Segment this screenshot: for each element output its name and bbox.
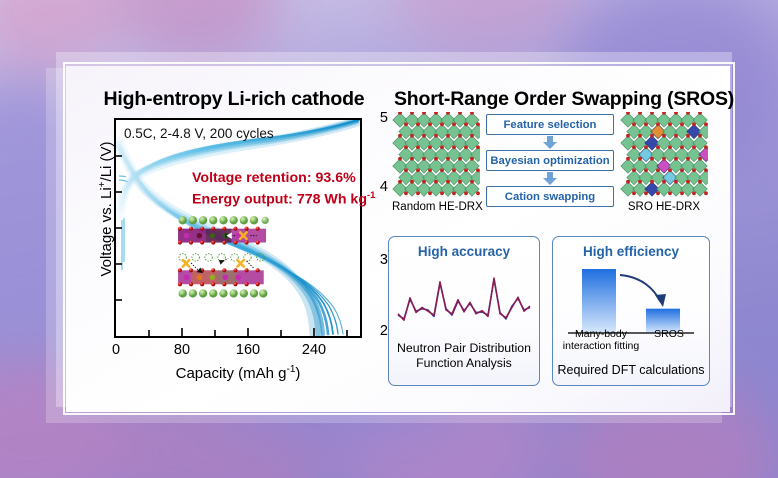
bar-label-many-body-line1: Many-body — [559, 329, 643, 341]
bar-many-body — [582, 269, 616, 333]
high-accuracy-caption: Neutron Pair Distribution Function Analy… — [389, 341, 539, 370]
bar-label-many-body: Many-body interaction fitting — [559, 329, 643, 352]
y-tick-5: 5 — [364, 110, 388, 126]
li-vacancies — [179, 254, 264, 261]
sro-he-drx-icon — [620, 112, 708, 200]
accuracy-caption-line1: Neutron Pair Distribution — [389, 341, 539, 356]
high-efficiency-title: High efficiency — [553, 244, 709, 259]
x-tick-160: 160 — [228, 342, 268, 358]
bar-label-sros: SROS — [641, 329, 697, 341]
arrow-down-icon-2 — [542, 172, 558, 185]
chart-plot-area: 0.5C, 2-4.8 V, 200 cycles — [114, 118, 362, 338]
li-atoms-bottom — [179, 289, 268, 297]
highlight-voltage-retention: Voltage retention: 93.6% — [192, 170, 375, 187]
high-efficiency-caption: Required DFT calculations — [553, 363, 709, 378]
sro-he-drx-structure: SRO HE-DRX — [620, 112, 708, 213]
voltage-capacity-chart: Voltage vs. Li+/Li (V) 5 4 3 2 0 80 160 … — [80, 112, 388, 392]
pdf-curve-chart — [394, 263, 534, 337]
highlight-energy-text: Energy output: 778 Wh kg — [192, 192, 367, 208]
chart-highlight-text: Voltage retention: 93.6% Energy output: … — [192, 170, 375, 209]
sros-workflow: Random HE-DRX Feature selection Bayesian… — [392, 112, 708, 224]
flow-step-cation-swapping[interactable]: Cation swapping — [486, 186, 614, 207]
highlight-energy-sup: -1 — [367, 190, 375, 201]
efficiency-arrow-curve — [620, 275, 660, 301]
high-efficiency-panel: High efficiency Many-body interaction fi… — [552, 236, 710, 386]
flow-step-bayesian-optimization[interactable]: Bayesian optimization — [486, 150, 614, 171]
bar-label-sros-text: SROS — [654, 328, 684, 340]
x-axis-label-text: Capacity (mAh g — [176, 365, 287, 382]
graphical-abstract: High-entropy Li-rich cathode Short-Range… — [0, 0, 778, 478]
random-he-drx-icon — [392, 112, 480, 200]
bar-label-many-body-line2: interaction fitting — [559, 341, 643, 353]
arrow-down-icon-1 — [542, 136, 558, 149]
random-he-drx-caption: Random HE-DRX — [392, 201, 480, 213]
y-axis-label-suffix: /Li (V) — [98, 141, 115, 181]
efficiency-arrow-head — [655, 294, 666, 307]
highlight-energy-output: Energy output: 778 Wh kg-1 — [192, 187, 375, 209]
layered-cathode-structure — [134, 212, 324, 312]
left-panel-title: High-entropy Li-rich cathode — [84, 88, 384, 111]
sros-flow-steps: Feature selection Bayesian optimization … — [486, 114, 614, 207]
li-atoms-top — [179, 216, 269, 224]
y-axis-label-sup: + — [97, 181, 108, 187]
chart-condition-label: 0.5C, 2-4.8 V, 200 cycles — [124, 126, 274, 141]
high-accuracy-title: High accuracy — [389, 244, 539, 259]
y-tick-2: 2 — [364, 323, 388, 339]
x-tick-0: 0 — [96, 342, 136, 358]
flow-step-feature-selection[interactable]: Feature selection — [486, 114, 614, 135]
x-tick-80: 80 — [162, 342, 202, 358]
sro-he-drx-caption: SRO HE-DRX — [620, 201, 708, 213]
y-tick-3: 3 — [364, 252, 388, 268]
right-panel-title: Short-Range Order Swapping (SROS) — [394, 88, 706, 111]
chart-x-axis-label: Capacity (mAh g-1) — [114, 364, 362, 382]
x-tick-240: 240 — [294, 342, 334, 358]
accuracy-caption-line2: Function Analysis — [389, 356, 539, 371]
bg-blob-pink-3 — [390, 0, 580, 50]
bg-blob-pink-2 — [110, 0, 280, 60]
chart-y-axis-label: Voltage vs. Li+/Li (V) — [97, 109, 115, 309]
random-he-drx-structure: Random HE-DRX — [392, 112, 480, 213]
high-accuracy-panel: High accuracy Neutron Pair Distribution … — [388, 236, 540, 386]
y-axis-label-text: Voltage vs. Li — [98, 187, 115, 276]
x-axis-label-suffix: ) — [295, 365, 300, 382]
